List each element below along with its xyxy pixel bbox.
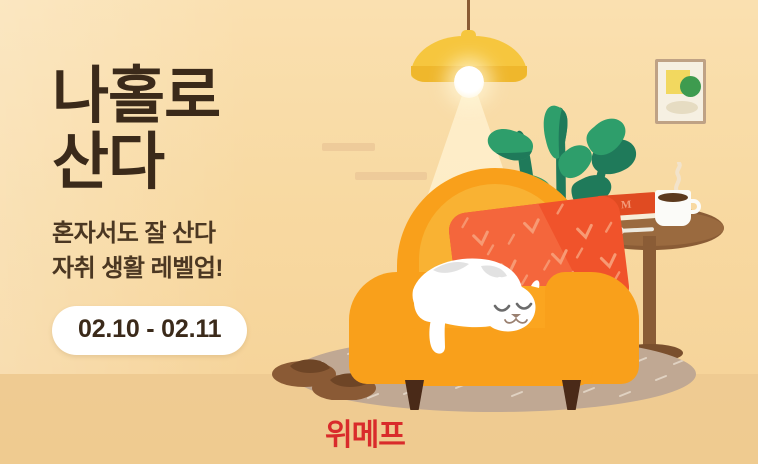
subtitle-line-2: 자취 생활 레벨업! [52,252,332,286]
headline-line-2: 산다 [52,130,332,196]
banner-subtitle: 혼자서도 잘 산다 자취 생활 레벨업! [52,217,332,285]
art-beige-ellipse [666,101,698,114]
sleeping-cat [397,250,547,360]
headline-line-1: 나홀로 [52,64,332,130]
abstract-wall-art [655,59,706,124]
promo-banner[interactable]: M [0,0,758,464]
coffee-mug [655,190,691,226]
page-title: 나홀로 산다 [52,64,332,195]
subtitle-line-1: 혼자서도 잘 산다 [52,217,332,251]
date-range-badge[interactable]: 02.10 - 02.11 [52,306,247,355]
brand-logo[interactable]: 위메프 [325,410,405,454]
art-green-circle [680,76,701,97]
banner-copy: 나홀로 산다 혼자서도 잘 산다 자취 생활 레벨업! 02.10 - 02.1… [52,64,332,355]
coffee-surface [658,193,688,202]
